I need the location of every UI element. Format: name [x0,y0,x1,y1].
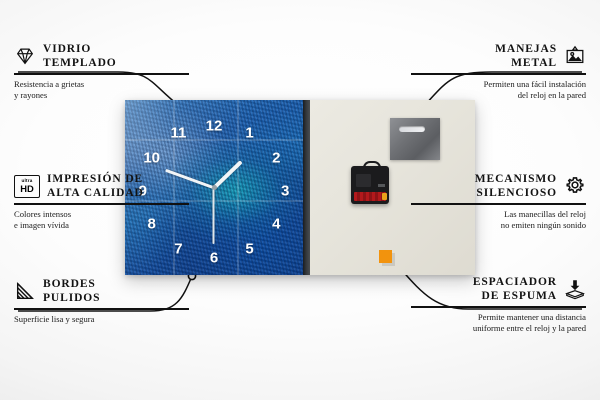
numeral-5: 5 [245,241,253,256]
polished-edge-icon [14,280,36,302]
numeral-12: 12 [206,119,223,134]
feature-callout-mecanismo: MECANISMO SILENCIOSO Las manecillas del … [411,172,586,231]
callout-title-line1: VIDRIO [43,42,117,56]
callout-desc-line2: uniforme entre el reloj y la pared [411,323,586,334]
numeral-7: 7 [174,241,182,256]
numeral-11: 11 [170,126,186,141]
callout-divider [411,73,586,75]
battery-terminal [382,193,387,200]
diamond-icon [14,45,36,67]
callout-divider [14,73,189,75]
feature-callout-espaciador: ESPACIADOR DE ESPUMA Permite mantener un… [411,275,586,334]
feature-callout-manejas: MANEJAS METAL Permiten una fácil instala… [411,42,586,101]
callout-title-line2: TEMPLADO [43,56,117,70]
mechanism-label-strip [378,184,385,187]
callout-title-line1: MANEJAS [495,42,557,56]
hanger-slot [399,126,425,132]
clock-center-pin [212,185,217,190]
callout-desc-line1: Permiten una fácil instalación [411,79,586,90]
callout-title-group: IMPRESIÓN DE ALTA CALIDAD [47,172,144,200]
metal-hanger-plate [390,118,440,160]
callout-title-line2: ALTA CALIDAD [47,186,144,200]
numeral-4: 4 [272,217,280,232]
callout-desc-line2: e imagen vívida [14,220,189,231]
badge-hd-text: HD [20,184,34,193]
feature-callout-vidrio: VIDRIO TEMPLADO Resistencia a grietas y … [14,42,189,101]
callout-title-group: MANEJAS METAL [495,42,557,70]
callout-divider [411,203,586,205]
callout-title-line1: IMPRESIÓN DE [47,172,144,186]
numeral-2: 2 [272,150,280,165]
callout-title-group: BORDES PULIDOS [43,277,100,305]
callout-desc-line1: Resistencia a grietas [14,79,189,90]
foam-spacer-icon [564,278,586,300]
callout-desc-line1: Permite mantener una distancia [411,312,586,323]
callout-title-group: MECANISMO SILENCIOSO [475,172,557,200]
callout-title-group: ESPACIADOR DE ESPUMA [473,275,557,303]
callout-desc-line2: del reloj en la pared [411,90,586,101]
callout-title-line1: BORDES [43,277,100,291]
feature-callout-impresion: ultra HD IMPRESIÓN DE ALTA CALIDAD Color… [14,172,189,231]
ultra-hd-badge-icon: ultra HD [14,175,40,198]
callout-title-line2: PULIDOS [43,291,100,305]
mechanism-hanger-loop [363,161,381,170]
numeral-3: 3 [281,184,289,199]
callout-desc-line1: Colores intensos [14,209,189,220]
mechanism-housing [356,174,371,187]
numeral-1: 1 [245,126,253,141]
callout-divider [14,308,189,310]
callout-divider [411,306,586,308]
callout-desc-line1: Las manecillas del reloj [411,209,586,220]
callout-title-line1: ESPACIADOR [473,275,557,289]
callout-title-line2: DE ESPUMA [473,289,557,303]
gear-icon [564,175,586,197]
callout-desc-line1: Superficie lisa y segura [14,314,189,325]
callout-title-line2: SILENCIOSO [475,186,557,200]
callout-title-line2: METAL [495,56,557,70]
callout-desc-line2: y rayones [14,90,189,101]
numeral-10: 10 [143,150,160,165]
picture-hanger-icon [564,45,586,67]
numeral-6: 6 [210,250,218,265]
foam-spacer-pad [379,250,392,263]
callout-title-line1: MECANISMO [475,172,557,186]
callout-divider [14,203,189,205]
clock-mechanism-box [351,166,389,204]
infographic-canvas: 12 1 2 3 4 5 6 7 8 9 10 11 [0,0,600,400]
clock-side-edge [303,100,310,275]
feature-callout-bordes: BORDES PULIDOS Superficie lisa y segura [14,277,189,325]
callout-title-group: VIDRIO TEMPLADO [43,42,117,70]
callout-desc-line2: no emiten ningún sonido [411,220,586,231]
